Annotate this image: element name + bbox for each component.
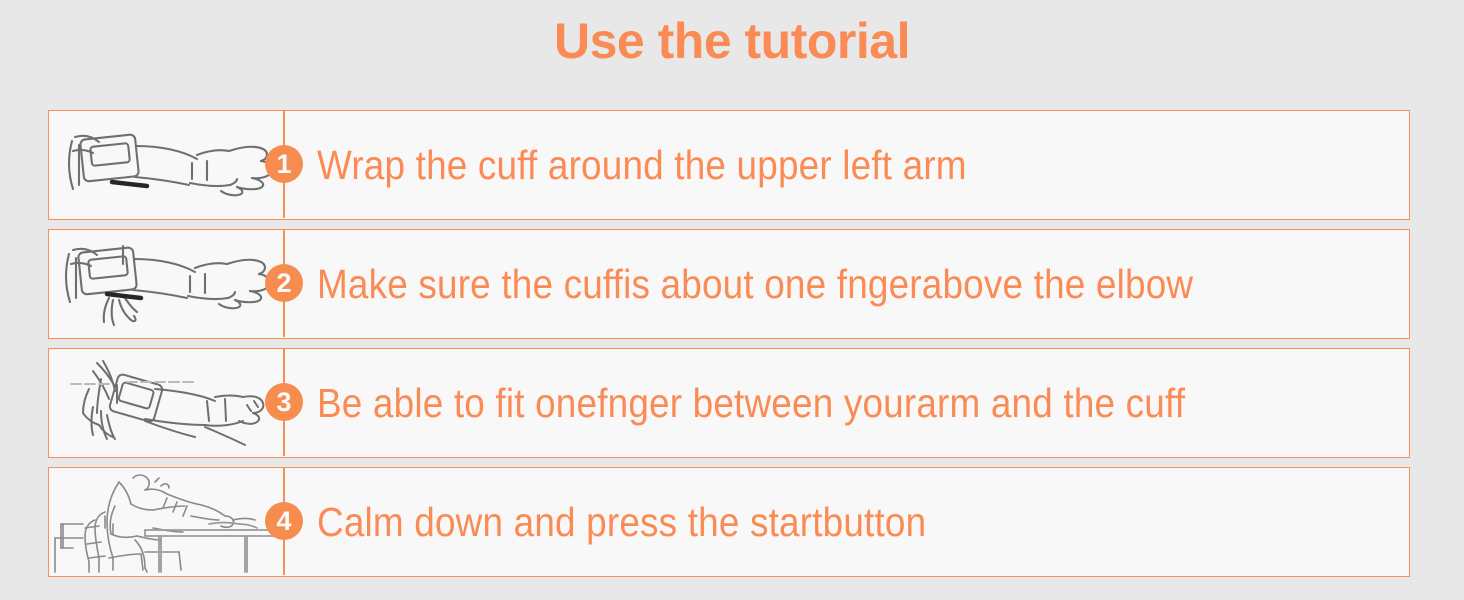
step-text-4: Calm down and press the startbutton: [317, 495, 926, 549]
step-text-1: Wrap the cuff around the upper left arm: [317, 138, 967, 192]
step-badge-4: 4: [265, 502, 303, 540]
step-illustration-3: [49, 349, 283, 456]
step-badge-2: 2: [265, 264, 303, 302]
step-badge-3: 3: [265, 383, 303, 421]
step-illustration-4: [49, 468, 283, 575]
tutorial-steps-list: 1 Wrap the cuff around the upper left ar…: [48, 110, 1410, 577]
list-item: 4 Calm down and press the startbutton: [48, 467, 1410, 577]
step-illustration-2: [49, 230, 283, 337]
step-badge-1: 1: [265, 145, 303, 183]
step-illustration-1: [49, 111, 283, 218]
tutorial-page: Use the tutorial: [0, 0, 1464, 600]
step-text-3: Be able to fit onefnger between yourarm …: [317, 376, 1185, 430]
list-item: 2 Make sure the cuffis about one fngerab…: [48, 229, 1410, 339]
list-item: 3 Be able to fit onefnger between yourar…: [48, 348, 1410, 458]
step-text-2: Make sure the cuffis about one fngerabov…: [317, 257, 1193, 311]
page-title: Use the tutorial: [0, 14, 1464, 69]
list-item: 1 Wrap the cuff around the upper left ar…: [48, 110, 1410, 220]
